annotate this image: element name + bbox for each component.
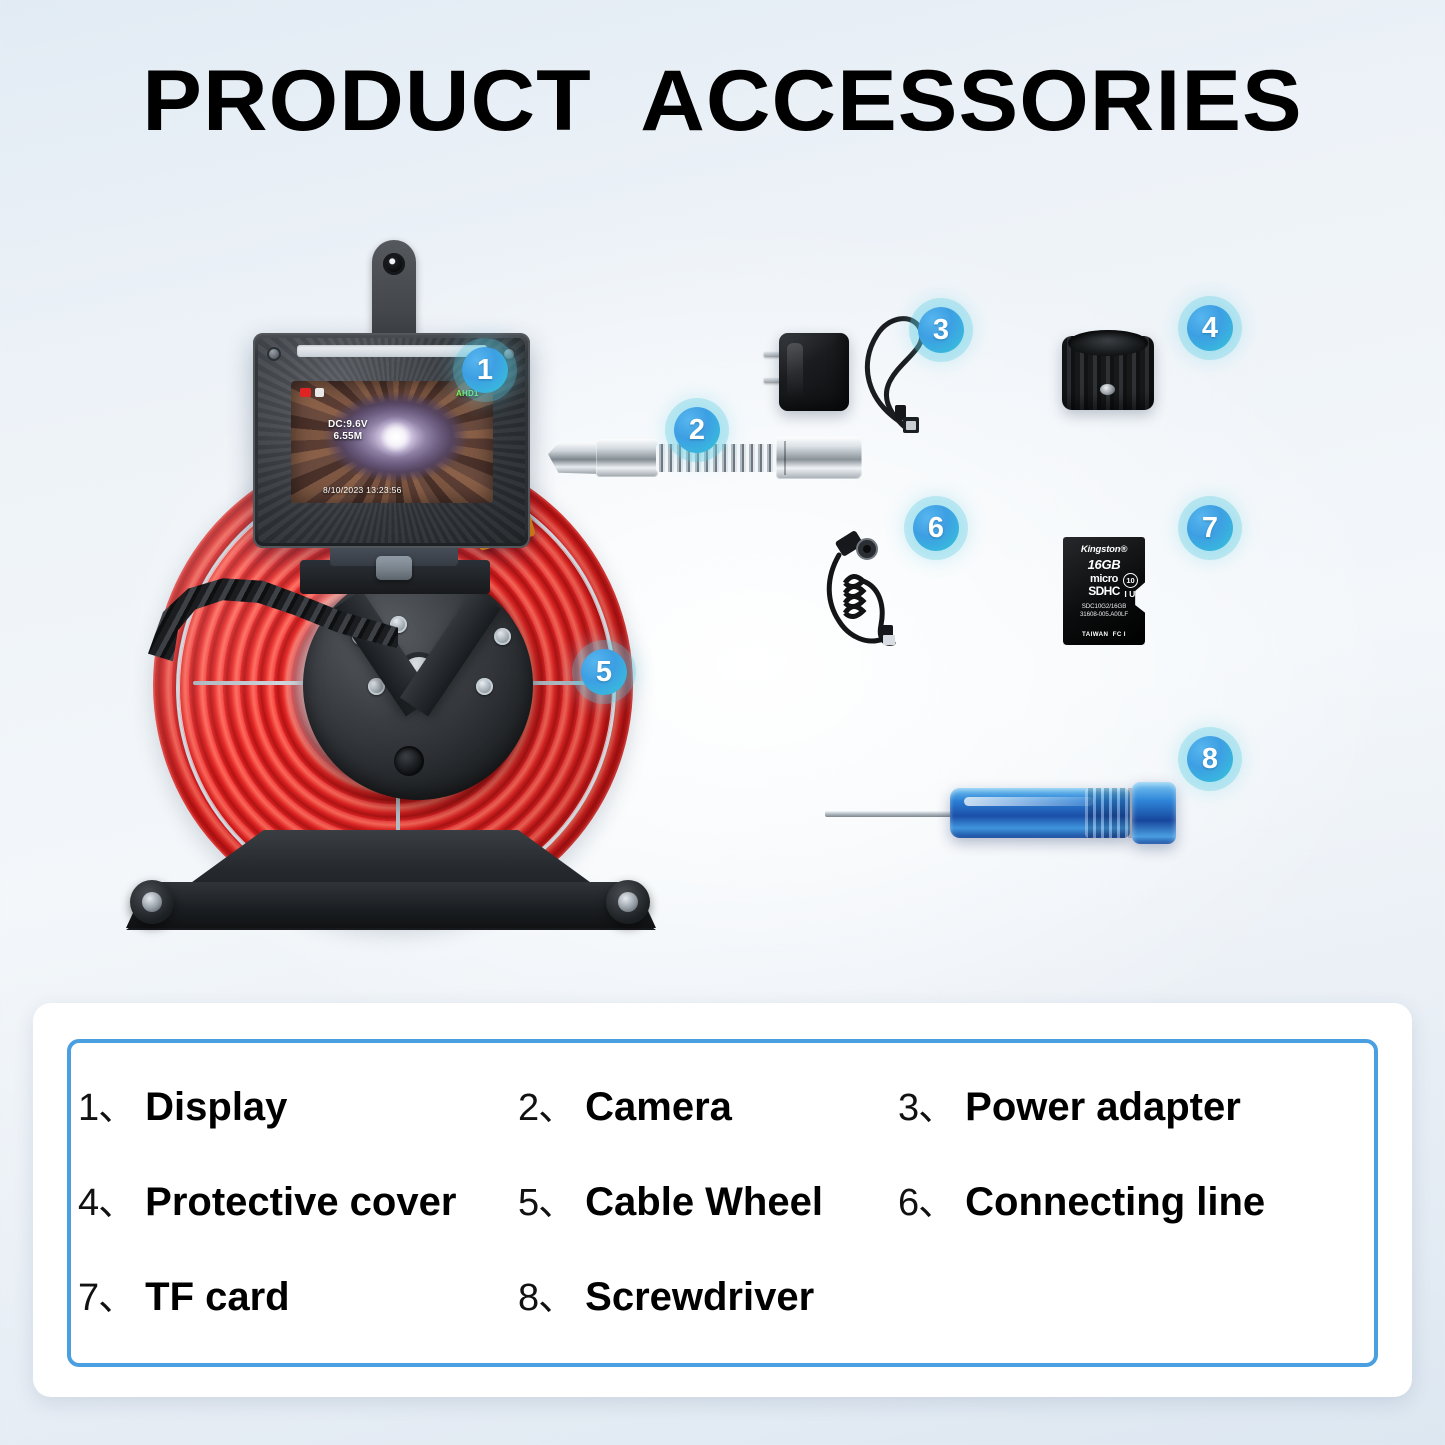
legend-number: 8、: [518, 1266, 575, 1321]
stand-foot-right: [606, 880, 650, 924]
tf-uhs-label: I U1: [1124, 589, 1140, 599]
callout-badge-2[interactable]: 2: [674, 407, 720, 453]
hub-bolt: [476, 678, 493, 695]
legend-item-6: 6、 Connecting line: [898, 1171, 1378, 1226]
callout-badge-3[interactable]: 3: [918, 307, 964, 353]
callout-badge-4[interactable]: 4: [1187, 305, 1233, 351]
osd-timestamp: 8/10/2023 13:23:56: [323, 485, 402, 495]
monitor-pivot: [376, 556, 412, 580]
legend-label: Cable Wheel: [585, 1180, 823, 1225]
legend-number: 6、: [898, 1171, 955, 1226]
connecting-line: [815, 525, 935, 660]
monitor-top-slot: [297, 345, 487, 357]
tf-lot-code-line: 31608-005.A00LF: [1063, 611, 1145, 619]
legend-number: 1、: [78, 1076, 135, 1131]
legend-list: 1、 Display 2、 Camera 3、 Power adapter 4、…: [78, 1076, 1378, 1321]
legend-number: 5、: [518, 1171, 575, 1226]
legend-label: Power adapter: [965, 1085, 1241, 1130]
stand-foot-left: [130, 880, 174, 924]
legend-item-1: 1、 Display: [78, 1076, 518, 1131]
power-adapter: [779, 333, 849, 411]
legend-label: Protective cover: [145, 1180, 456, 1225]
legend-item-5: 5、 Cable Wheel: [518, 1171, 898, 1226]
legend-number: 4、: [78, 1171, 135, 1226]
camera-lens-tip: [548, 442, 600, 474]
tf-speed-class-icon: 10: [1123, 573, 1138, 588]
tf-origin-label: TAIWAN: [1082, 631, 1108, 638]
tf-origin-cert: TAIWAN FC I: [1063, 631, 1145, 638]
legend-label: Display: [145, 1085, 287, 1130]
callout-badge-1[interactable]: 1: [462, 347, 508, 393]
housing-screw: [267, 347, 281, 361]
legend-number: 3、: [898, 1076, 955, 1131]
legend-item-7: 7、 TF card: [78, 1266, 518, 1321]
protective-cover-screw: [1100, 384, 1115, 395]
legend-label: Connecting line: [965, 1180, 1265, 1225]
infographic-canvas: PRODUCT ACCESSORIES 30M: [0, 0, 1445, 1445]
sd-indicator-icon: [315, 388, 324, 397]
legend-label: Camera: [585, 1085, 732, 1130]
osd-distance-value: 6.55M: [328, 431, 368, 443]
legend-item-2: 2、 Camera: [518, 1076, 898, 1131]
legend-label: Screwdriver: [585, 1275, 814, 1320]
tf-cert-label: FC I: [1113, 631, 1126, 638]
legend-label: TF card: [145, 1275, 289, 1320]
camera-body: [596, 439, 658, 477]
screwdriver-grip-rings: [1085, 788, 1137, 838]
osd-voltage: DC:9.6V 6.55M: [328, 419, 368, 443]
legend-item-8: 8、 Screwdriver: [518, 1266, 898, 1321]
screwdriver-end-cap: [1132, 782, 1176, 844]
legend-item-4: 4、 Protective cover: [78, 1171, 518, 1226]
callout-badge-8[interactable]: 8: [1187, 736, 1233, 782]
legend-item-3: 3、 Power adapter: [898, 1076, 1378, 1131]
camera-connector-end: [776, 437, 862, 479]
legend-number: 2、: [518, 1076, 575, 1131]
adapter-prong-bottom: [764, 378, 780, 383]
hub-cable-port: [394, 746, 424, 776]
legend-number: 7、: [78, 1266, 135, 1321]
page-title: PRODUCT ACCESSORIES: [0, 52, 1445, 151]
adapter-prong-top: [764, 352, 780, 357]
tf-capacity-label: 16GB: [1063, 557, 1145, 572]
screwdriver-shaft: [825, 811, 955, 817]
camera-flex-spring: [656, 444, 782, 472]
tf-part-number: SDC10G2/16GB 31608-005.A00LF: [1063, 603, 1145, 619]
callout-badge-5[interactable]: 5: [581, 649, 627, 695]
stand-base-bar: [126, 882, 656, 928]
legend-empty-cell: [898, 1266, 1378, 1321]
hub-bolt: [494, 628, 511, 645]
callout-badge-6[interactable]: 6: [913, 505, 959, 551]
protective-cover-opening: [1068, 330, 1148, 356]
tf-part-number-line: SDC10G2/16GB: [1063, 603, 1145, 611]
record-indicator-icon: [300, 388, 311, 397]
tf-card: Kingston® 16GB micro SDHC 10 I U1 SDC10G…: [1063, 537, 1145, 645]
osd-voltage-value: DC:9.6V: [328, 419, 368, 431]
callout-badge-7[interactable]: 7: [1187, 505, 1233, 551]
tf-brand-label: Kingston®: [1063, 544, 1145, 555]
